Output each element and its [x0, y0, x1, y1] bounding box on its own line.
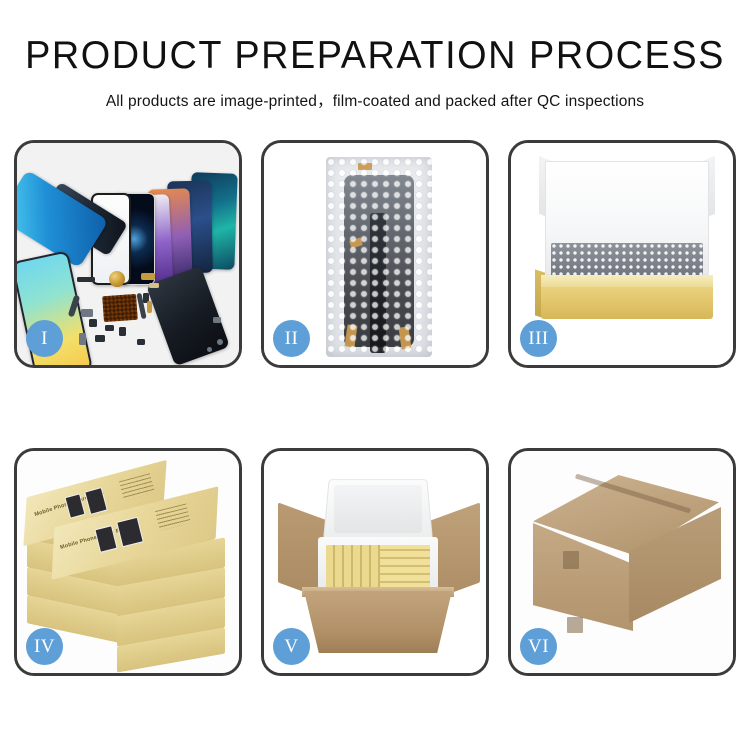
screw-part — [217, 339, 223, 345]
step-badge-3: III — [520, 320, 557, 357]
small-part — [213, 317, 221, 323]
small-part — [79, 333, 86, 345]
header: PRODUCT PREPARATION PROCESS All products… — [0, 36, 750, 111]
tape-piece — [358, 163, 372, 170]
carton-tab — [563, 551, 579, 569]
small-part — [77, 277, 95, 282]
circuit-board-part — [102, 294, 138, 322]
step-badge-4: IV — [26, 628, 63, 665]
small-part — [89, 319, 97, 327]
small-part — [147, 301, 152, 313]
carton-tab — [567, 617, 583, 633]
step-panel-6: VI — [508, 448, 736, 676]
box-body-yellow — [541, 275, 713, 319]
small-part — [81, 309, 93, 317]
screw-part — [207, 347, 212, 352]
step-badge-6: VI — [520, 628, 557, 665]
step-panel-3: III — [508, 140, 736, 368]
inner-boxes-row — [380, 545, 430, 589]
product-preparation-infographic: PRODUCT PREPARATION PROCESS All products… — [0, 0, 750, 750]
box-front-edge — [541, 275, 713, 287]
step-panel-1: I — [14, 140, 242, 368]
small-part — [149, 283, 159, 288]
small-part — [95, 335, 105, 342]
small-part — [119, 327, 126, 336]
phone-back-housing — [146, 266, 230, 367]
carton-body — [304, 591, 452, 653]
step-panel-2: II — [261, 140, 489, 368]
step-badge-1: I — [26, 320, 63, 357]
small-part — [105, 325, 114, 331]
small-part — [141, 273, 155, 280]
page-title: PRODUCT PREPARATION PROCESS — [11, 36, 739, 77]
process-steps-grid: I II — [14, 140, 736, 676]
speaker-part-icon — [109, 271, 125, 287]
foam-box-lid-inner — [334, 485, 422, 533]
step-panel-5: V — [261, 448, 489, 676]
step-badge-5: V — [273, 628, 310, 665]
bubble-wrap-bag — [326, 157, 432, 357]
small-part — [137, 339, 145, 345]
step-panel-4: Mobile Phone Spare Parts Mobile Phone Sp… — [14, 448, 242, 676]
page-subtitle: All products are image-printed，film-coat… — [0, 89, 750, 111]
wrapped-product-strip — [370, 213, 386, 353]
step-badge-2: II — [273, 320, 310, 357]
